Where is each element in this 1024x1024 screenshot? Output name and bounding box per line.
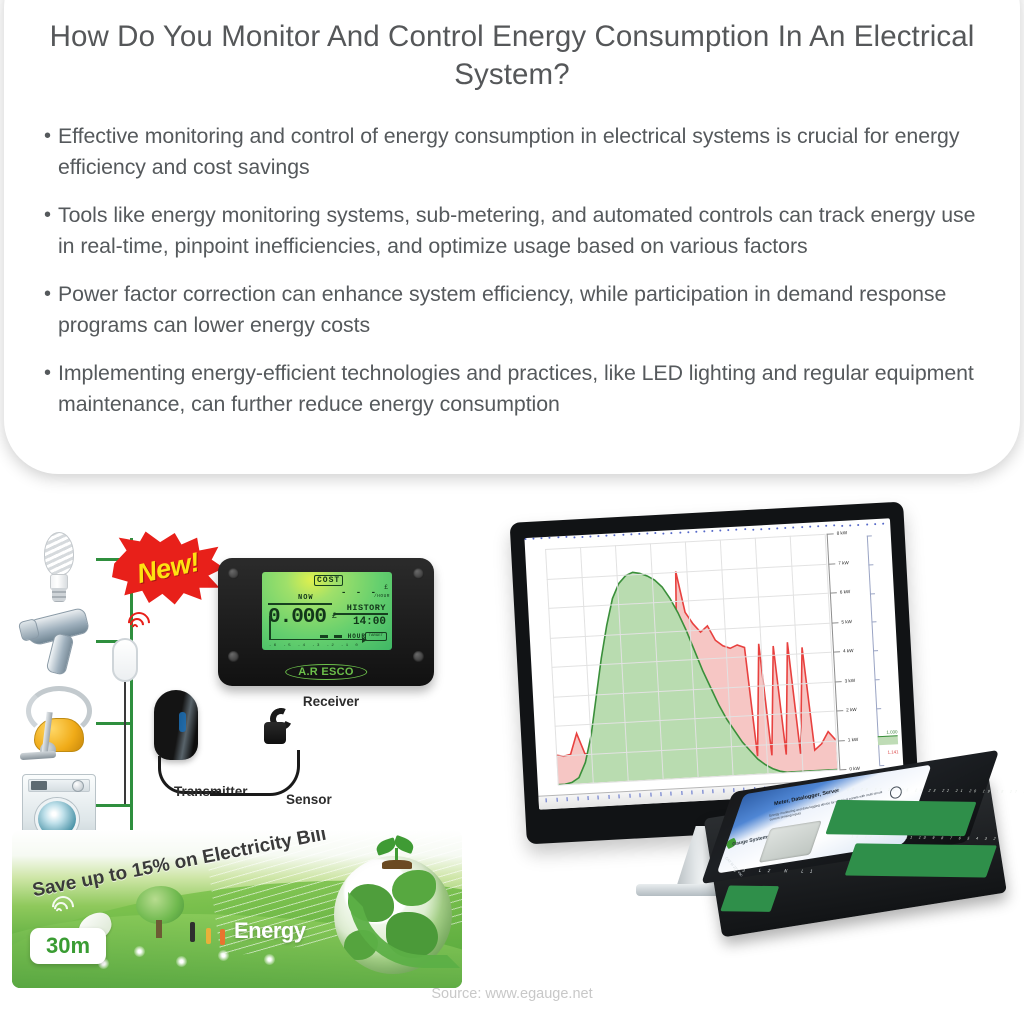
terminal-block-top: [825, 800, 976, 836]
energy-word: Energy: [234, 918, 306, 944]
receiver-label: Receiver: [276, 694, 386, 709]
lcd-axis-ticks: -6 -5 -4 -3 -2 -1 0: [269, 644, 360, 648]
lcd-time: 14:00: [353, 616, 386, 628]
bullet-text: Tools like energy monitoring systems, su…: [58, 200, 988, 261]
bullet-text: Implementing energy-efficient technologi…: [58, 358, 988, 419]
energy-chart: [545, 534, 837, 785]
axis-tick: [831, 622, 838, 623]
sprout-icon: [376, 836, 418, 868]
axis-tick-label: 3 kW: [844, 677, 855, 683]
axis-tick: [827, 533, 834, 534]
lcd-history-rule: [334, 613, 388, 615]
axis-tick: [830, 592, 837, 593]
range-badge: 30m: [30, 928, 106, 964]
terminal-block-bottom: [845, 843, 997, 877]
page-title: How Do You Monitor And Control Energy Co…: [30, 18, 994, 94]
axis-tick: [870, 593, 875, 594]
infographic-page: How Do You Monitor And Control Energy Co…: [0, 0, 1024, 1024]
axis-tick: [828, 563, 835, 564]
axis-tick-label: 1 kW: [848, 736, 859, 742]
list-item: • Effective monitoring and control of en…: [42, 121, 994, 182]
appliance-icon-column: [8, 530, 112, 830]
lcd-now-rule: [268, 603, 332, 605]
list-item: • Tools like energy monitoring systems, …: [42, 200, 994, 261]
screw-icon: [228, 651, 239, 662]
tree-icon: [134, 886, 186, 940]
bullet-marker-icon: •: [42, 358, 58, 389]
bullet-marker-icon: •: [42, 200, 58, 231]
content-card: How Do You Monitor And Control Energy Co…: [4, 0, 1020, 474]
axis-tick-label: 6 kW: [840, 589, 851, 595]
mains-terminal-block: [720, 885, 779, 911]
monitoring-dashboard-photo: 0 kW1 kW2 kW3 kW4 kW5 kW6 kW7 kW8 kW 1.0…: [500, 500, 1024, 1020]
axis-tick: [871, 621, 876, 622]
bullet-list: • Effective monitoring and control of en…: [30, 121, 994, 419]
lcd-currency-small: £: [384, 584, 388, 591]
inline-sensor-clamp: [112, 638, 138, 682]
energy-receiver-device: COST - - - £ /HOUR NOW 0.000 £ HISTORY 1…: [218, 558, 434, 686]
energy-monitor-kit-photo: New! COST - - - £ /HOUR NOW 0.000 £ HIST…: [0, 512, 472, 994]
axis-tick: [879, 765, 884, 766]
lcd-chart-x-axis: [269, 639, 365, 641]
lcd-bar: [320, 635, 328, 638]
new-badge: New!: [112, 530, 224, 606]
list-item: • Implementing energy-efficient technolo…: [42, 358, 994, 419]
axis-tick-label: 2 kW: [846, 707, 857, 713]
axis-tick: [868, 564, 873, 565]
list-item: • Power factor correction can enhance sy…: [42, 279, 994, 340]
axis-tick: [873, 650, 878, 651]
signal-waves-icon: [54, 892, 84, 918]
lcd-display: COST - - - £ /HOUR NOW 0.000 £ HISTORY 1…: [262, 572, 392, 650]
axis-tick: [835, 681, 842, 682]
bullet-text: Power factor correction can enhance syst…: [58, 279, 988, 340]
screw-icon: [228, 568, 239, 579]
axis-tick-label: 4 kW: [843, 648, 854, 654]
axis-tick: [833, 651, 840, 652]
esco-brand-logo: A.R ESCO: [285, 664, 367, 680]
axis-tick-label: 5 kW: [841, 619, 852, 625]
sensor-cord: [210, 750, 300, 796]
axis-tick: [839, 769, 846, 770]
new-badge-label: New!: [105, 519, 230, 617]
axis-tick: [838, 740, 845, 741]
lcd-chart-y-axis: [269, 616, 271, 640]
axis-tick: [876, 708, 881, 709]
bullet-marker-icon: •: [42, 121, 58, 152]
axis-tick-label: 0 kW: [849, 766, 860, 772]
mini-value-band: [878, 735, 898, 745]
lcd-axis-arrow-icon: [362, 637, 367, 643]
screw-icon: [413, 568, 424, 579]
sensor-lead: [124, 682, 126, 804]
axis-tick: [875, 679, 880, 680]
lcd-value: 0.000: [268, 606, 326, 629]
axis-tick: [836, 710, 843, 711]
axis-tick-label: 8 kW: [836, 530, 847, 536]
lcd-target-label: TARGET: [365, 632, 387, 641]
lcd-cost-label: COST: [314, 575, 343, 586]
mini-value-red: 1.141: [887, 749, 898, 755]
lcd-dashes: - - -: [341, 588, 378, 598]
eco-savings-banner: Save up to 15% on Electricity Bill: [12, 830, 462, 988]
transmitter-device: [154, 690, 198, 760]
source-attribution: Source: www.egauge.net: [0, 986, 1024, 1002]
lcd-per-hour-label: /HOUR: [374, 594, 390, 599]
lcd-bar: [334, 635, 342, 638]
axis-tick-label: 7 kW: [838, 560, 849, 566]
monitor-screen: 0 kW1 kW2 kW3 kW4 kW5 kW6 kW7 kW8 kW 1.0…: [524, 518, 904, 809]
lcd-history-label: HISTORY: [347, 603, 386, 613]
bullet-text: Effective monitoring and control of ener…: [58, 121, 988, 182]
mini-value-green: 1.030: [886, 729, 897, 735]
screw-icon: [413, 651, 424, 662]
axis-tick: [867, 535, 872, 536]
vacuum-cleaner-icon: [18, 682, 102, 768]
hair-dryer-icon: [20, 608, 98, 678]
bullet-marker-icon: •: [42, 279, 58, 310]
ct-sensor-device: [262, 708, 296, 754]
sensor-label: Sensor: [286, 792, 332, 807]
imagery-row: New! COST - - - £ /HOUR NOW 0.000 £ HIST…: [0, 500, 1024, 1024]
lcd-now-label: NOW: [298, 594, 314, 602]
cfl-bulb-icon: [36, 532, 82, 604]
